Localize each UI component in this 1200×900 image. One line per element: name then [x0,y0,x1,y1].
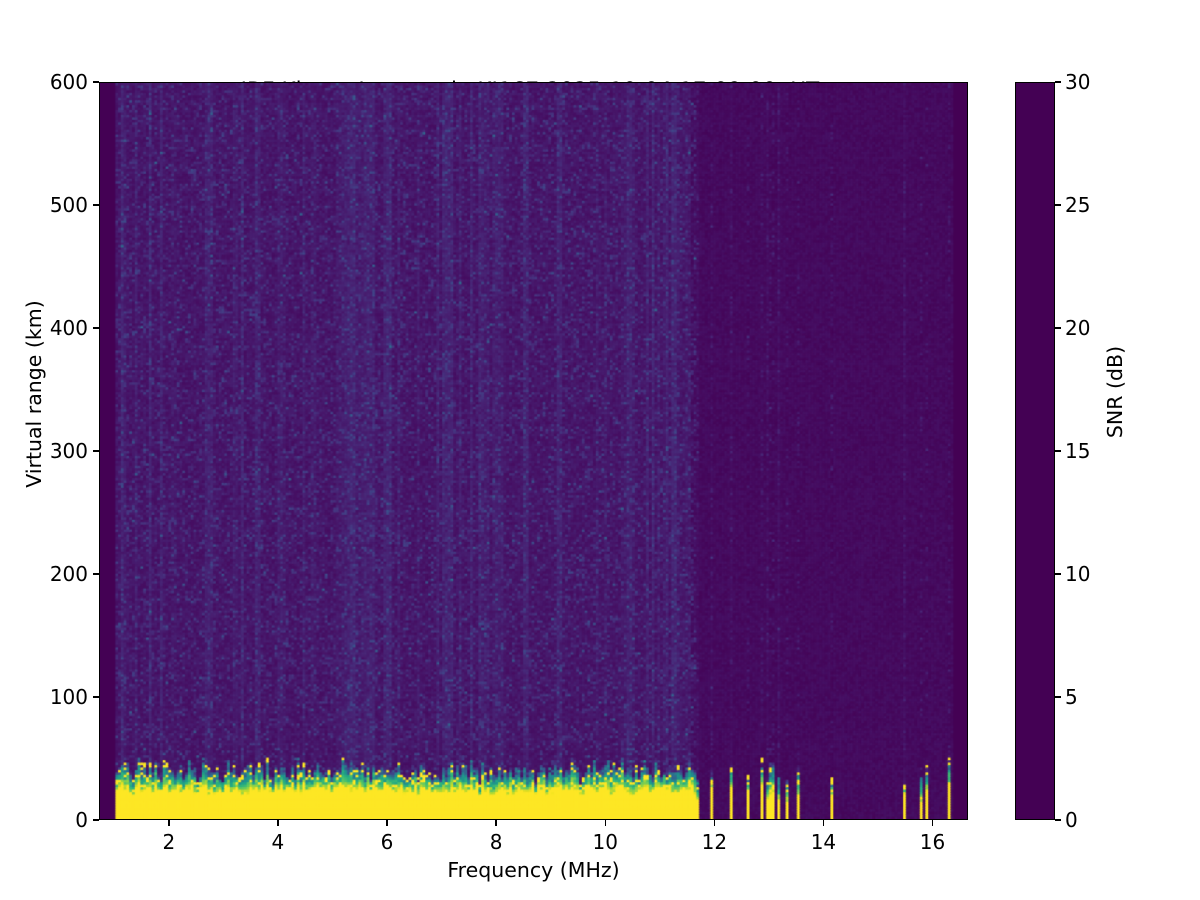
colorbar-tick-label: 10 [1065,562,1090,586]
y-axis-tick-label: 600 [50,70,88,94]
colorbar-tick-mark [1055,327,1061,328]
x-axis-tick-label: 6 [347,830,427,854]
x-axis-tick-label: 16 [893,830,973,854]
x-axis-tick-mark [168,820,169,826]
colorbar-tick-label: 30 [1065,70,1090,94]
colorbar[interactable]: 051015202530 [1015,82,1055,820]
colorbar-tick-label: 0 [1065,808,1078,832]
ionogram-heatmap-canvas[interactable] [100,83,967,819]
y-axis-tick-mark [93,327,99,328]
y-axis-tick-mark [93,573,99,574]
y-axis-tick-label: 400 [50,316,88,340]
colorbar-tick-label: 20 [1065,316,1090,340]
y-axis-tick-mark [93,81,99,82]
x-axis-tick-mark [932,820,933,826]
x-axis-tick-label: 12 [674,830,754,854]
x-axis-label: Frequency (MHz) [99,858,968,882]
x-axis-tick-label: 4 [238,830,318,854]
x-axis-tick-mark [605,820,606,826]
colorbar-tick-label: 25 [1065,193,1090,217]
ionogram-figure: IRF Kiruna Ionosonde KI167 2025-10-04 17… [0,0,1200,900]
y-axis-tick-label: 500 [50,193,88,217]
colorbar-tick-mark [1055,819,1061,820]
y-axis-tick-label: 200 [50,562,88,586]
y-axis-tick-mark [93,450,99,451]
x-axis: Frequency (MHz) 246810121416 [99,820,968,880]
x-axis-tick-mark [495,820,496,826]
x-axis-tick-mark [386,820,387,826]
x-axis-tick-mark [823,820,824,826]
colorbar-label: SNR (dB) [1103,282,1127,502]
y-axis-tick-label: 100 [50,685,88,709]
x-axis-tick-label: 2 [129,830,209,854]
x-axis-tick-mark [714,820,715,826]
y-axis: 0100200300400500600 [0,82,99,820]
colorbar-gradient [1015,82,1055,820]
y-axis-tick-mark [93,204,99,205]
colorbar-tick-mark [1055,204,1061,205]
y-axis-tick-mark [93,696,99,697]
y-axis-label: Virtual range (km) [22,284,46,504]
colorbar-tick-mark [1055,450,1061,451]
colorbar-tick-label: 5 [1065,685,1078,709]
y-axis-tick-label: 300 [50,439,88,463]
x-axis-tick-label: 8 [456,830,536,854]
x-axis-tick-label: 14 [783,830,863,854]
colorbar-tick-mark [1055,573,1061,574]
colorbar-tick-mark [1055,696,1061,697]
ionogram-plot-area[interactable] [99,82,968,820]
colorbar-tick-label: 15 [1065,439,1090,463]
y-axis-tick-label: 0 [75,808,88,832]
x-axis-tick-label: 10 [565,830,645,854]
colorbar-tick-mark [1055,81,1061,82]
x-axis-tick-mark [277,820,278,826]
